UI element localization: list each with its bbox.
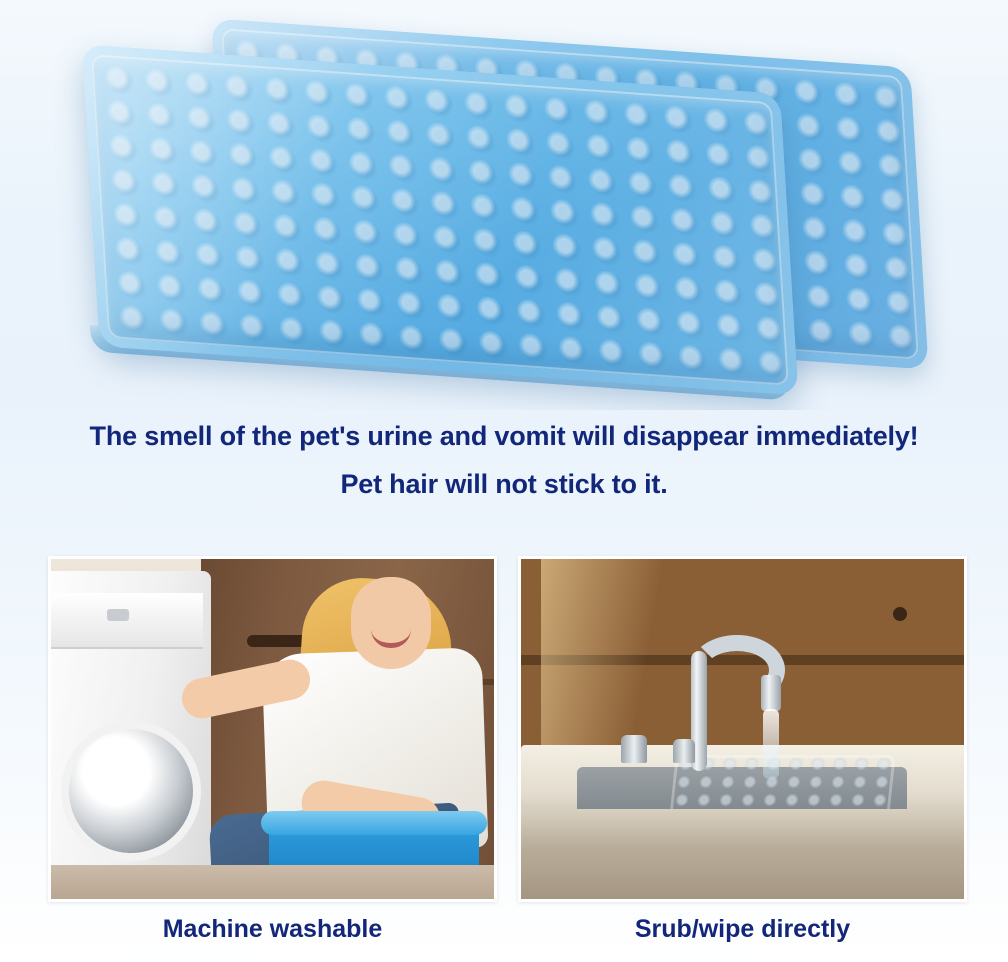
feature-panels: Machine washable Srub/wipe directly	[0, 556, 1008, 962]
headline-block: The smell of the pet's urine and vomit w…	[0, 418, 1008, 502]
headline-line-2: Pet hair will not stick to it.	[0, 466, 1008, 502]
faucet-head	[761, 675, 781, 711]
wall-knob	[893, 607, 907, 621]
headline-line-1: The smell of the pet's urine and vomit w…	[0, 418, 1008, 454]
person-face	[351, 577, 431, 669]
product-image	[70, 30, 920, 390]
product-infographic: The smell of the pet's urine and vomit w…	[0, 0, 1008, 962]
laundry-scene	[51, 559, 494, 899]
faucet-handle-left	[621, 735, 647, 763]
caption-scrub-wipe: Srub/wipe directly	[518, 908, 967, 950]
washer-button	[107, 609, 129, 621]
window-light	[541, 559, 661, 755]
caption-machine-washable: Machine washable	[48, 908, 497, 950]
floor	[51, 865, 497, 899]
laundry-basket-rim	[261, 811, 487, 835]
washer-control-panel	[51, 593, 203, 649]
counter-front	[521, 809, 967, 902]
sink-scene	[521, 559, 964, 899]
washer-door	[61, 721, 201, 861]
water-stream	[763, 709, 779, 779]
mat-edge	[81, 44, 798, 395]
feature-image-scrub-wipe	[518, 556, 967, 902]
feature-image-machine-washable	[48, 556, 497, 902]
hero-section	[0, 0, 1008, 410]
mat-front	[81, 44, 798, 395]
faucet-handle-right	[673, 739, 695, 763]
washing-machine	[51, 571, 211, 902]
